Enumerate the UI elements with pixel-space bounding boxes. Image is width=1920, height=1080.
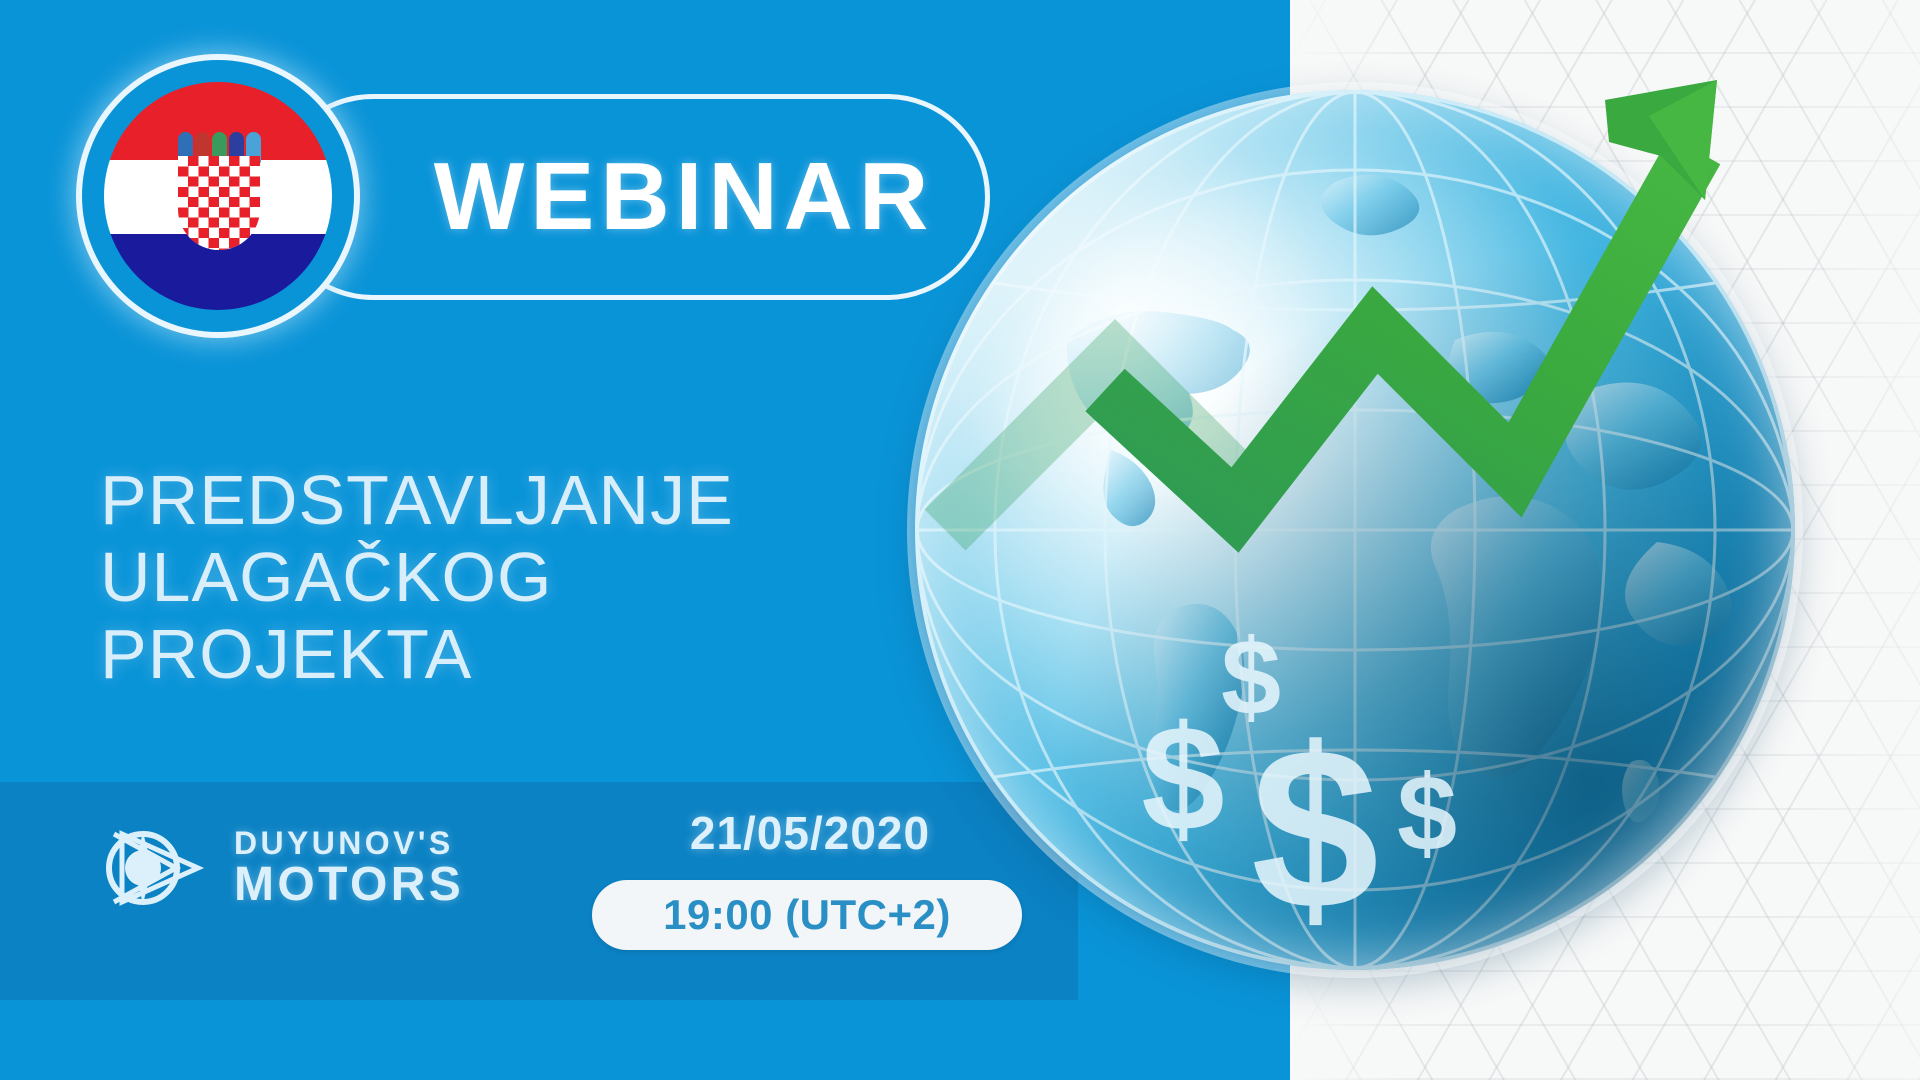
event-time-badge: 19:00 (UTC+2) bbox=[592, 880, 1022, 950]
headline-line-3: PROJEKTA bbox=[100, 616, 980, 693]
coat-of-arms bbox=[178, 126, 260, 250]
brand-wordmark: DUYUNOV'S MOTORS bbox=[234, 827, 464, 909]
headline-line-2: ULAGAČKOG bbox=[100, 539, 980, 616]
croatia-flag bbox=[104, 82, 332, 310]
duyunov-motors-emblem bbox=[98, 810, 208, 926]
checkerboard-shield bbox=[178, 156, 260, 250]
webinar-label: WEBINAR bbox=[326, 149, 935, 245]
page-title: PREDSTAVLJANJE ULAGAČKOG PROJEKTA bbox=[100, 462, 980, 693]
brand-line-2: MOTORS bbox=[234, 861, 464, 909]
growth-arrow-icon bbox=[905, 60, 1825, 980]
event-date: 21/05/2020 bbox=[660, 806, 960, 860]
webinar-pill: WEBINAR bbox=[270, 94, 990, 300]
brand-line-1: DUYUNOV'S bbox=[234, 827, 464, 859]
globe-illustration: $ $ $ $ bbox=[905, 60, 1825, 980]
croatia-flag-badge bbox=[82, 60, 354, 332]
footer-bottom-edge bbox=[0, 1000, 1290, 1080]
brand-logo: DUYUNOV'S MOTORS bbox=[98, 810, 464, 926]
webinar-banner: $ $ $ $ bbox=[0, 0, 1920, 1080]
checkerboard bbox=[178, 156, 260, 250]
headline-line-1: PREDSTAVLJANJE bbox=[100, 462, 980, 539]
